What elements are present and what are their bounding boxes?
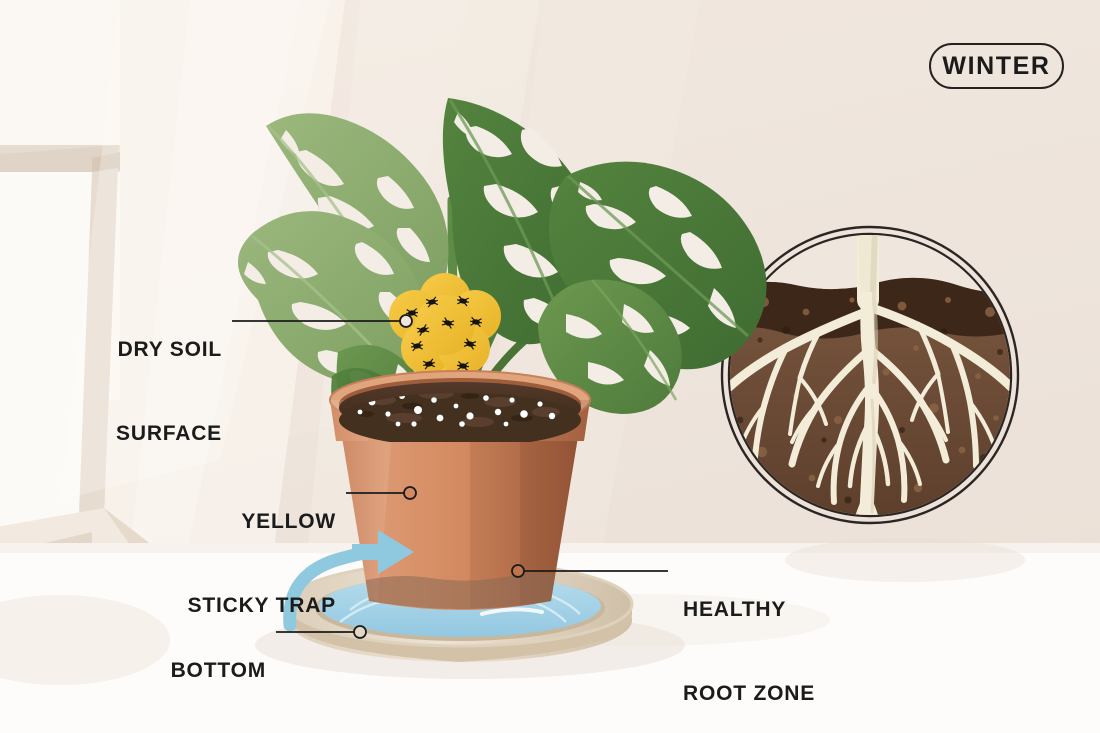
callout-line-1: DRY SOIL: [0, 336, 222, 364]
infographic-canvas: DRY SOIL SURFACE YELLOW STICKY TRAP BOTT…: [0, 0, 1100, 733]
terracotta-pot: [330, 371, 590, 630]
leader-dot-dry-soil-surface: [400, 315, 412, 327]
callout-line-2: SURFACE: [0, 420, 222, 448]
leader-dot-yellow-sticky-trap: [404, 487, 416, 499]
callout-label-bottom-watering: BOTTOM WATERING: [0, 602, 276, 733]
season-badge-label: WINTER: [942, 52, 1050, 81]
callout-line-1: HEALTHY: [683, 596, 1003, 624]
leader-dot-bottom-watering: [354, 626, 366, 638]
callout-line-1: YELLOW: [0, 508, 336, 536]
callout-line-2: ROOT ZONE: [683, 680, 1003, 708]
callout-line-1: BOTTOM: [0, 657, 266, 685]
callout-label-healthy-root-zone: HEALTHY ROOT ZONE: [683, 541, 1003, 733]
leader-dot-healthy-root-zone: [512, 565, 524, 577]
season-badge: WINTER: [929, 43, 1064, 89]
